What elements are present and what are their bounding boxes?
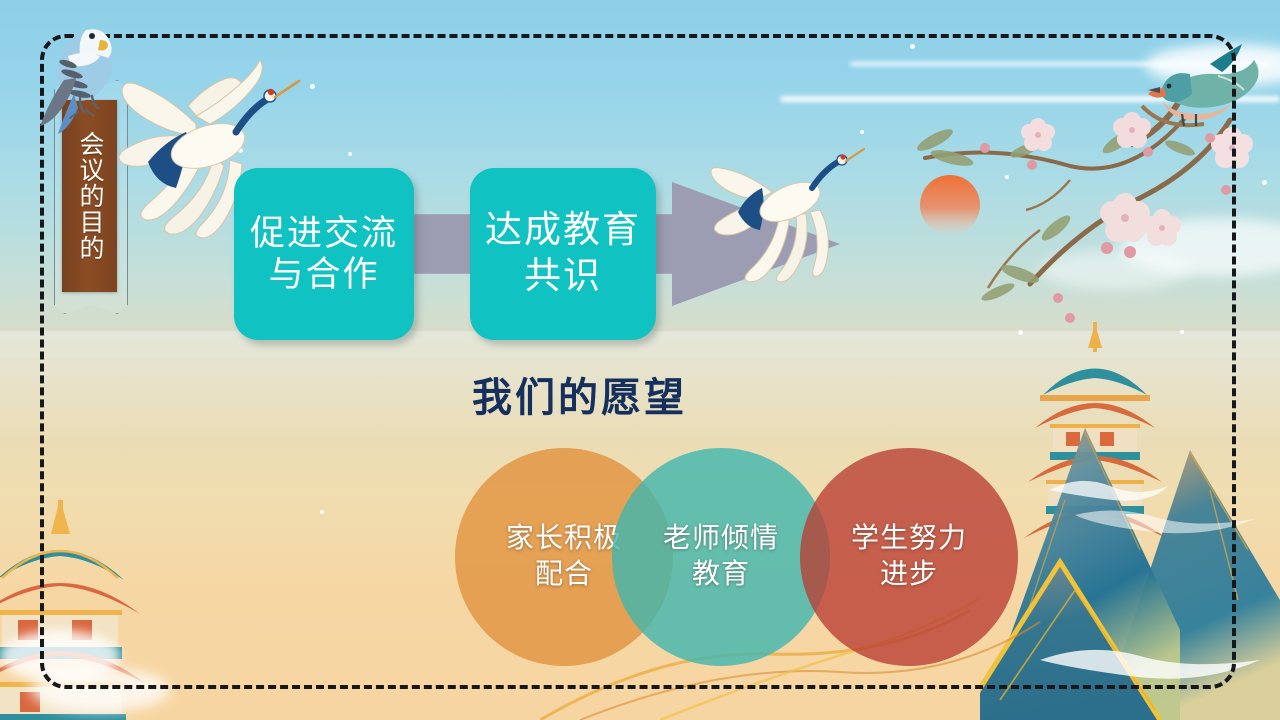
snow-speck xyxy=(910,44,915,49)
snow-speck xyxy=(348,152,352,156)
cloud-wisp xyxy=(780,96,1280,102)
snow-speck xyxy=(1180,330,1184,334)
snow-speck xyxy=(1018,330,1023,335)
banner-plate: 会议的目的 xyxy=(62,100,117,292)
snow-speck xyxy=(310,84,315,89)
process-box-1[interactable]: 促进交流与合作 xyxy=(234,168,414,340)
venn-circle-parents-line1: 家长积极 xyxy=(506,521,622,557)
venn-circle-students-line1: 学生努力 xyxy=(851,521,967,557)
cloud-wisp xyxy=(30,668,170,712)
process-box-2[interactable]: 达成教育共识 xyxy=(470,168,656,340)
title-banner: 会议的目的 xyxy=(54,80,126,312)
snow-speck xyxy=(320,510,324,514)
banner-label: 会议的目的 xyxy=(62,100,117,292)
venn-circle-parents-line2: 配合 xyxy=(506,557,622,593)
section-title: 我们的愿望 xyxy=(472,365,687,423)
process-box-2-label: 达成教育共识 xyxy=(480,208,646,301)
venn-circle-students[interactable]: 学生努力 进步 xyxy=(800,448,1018,666)
venn-circle-teachers-line1: 老师倾情 xyxy=(663,521,779,557)
venn-circle-teachers-line2: 教育 xyxy=(663,557,779,593)
process-box-1-label: 促进交流与合作 xyxy=(242,213,406,296)
snow-speck xyxy=(1005,175,1009,179)
snow-speck xyxy=(1262,180,1267,185)
snow-speck xyxy=(238,148,243,153)
venn-circle-students-line2: 进步 xyxy=(851,557,967,593)
slide-canvas: 会议的目的 促进交流与合作 达成教育共识 我们的愿望 家长积极 配合 老师倾情 … xyxy=(0,0,1280,720)
venn-circle-teachers[interactable]: 老师倾情 教育 xyxy=(612,448,830,666)
snow-speck xyxy=(860,130,864,134)
cloud-wisp xyxy=(1040,250,1190,290)
